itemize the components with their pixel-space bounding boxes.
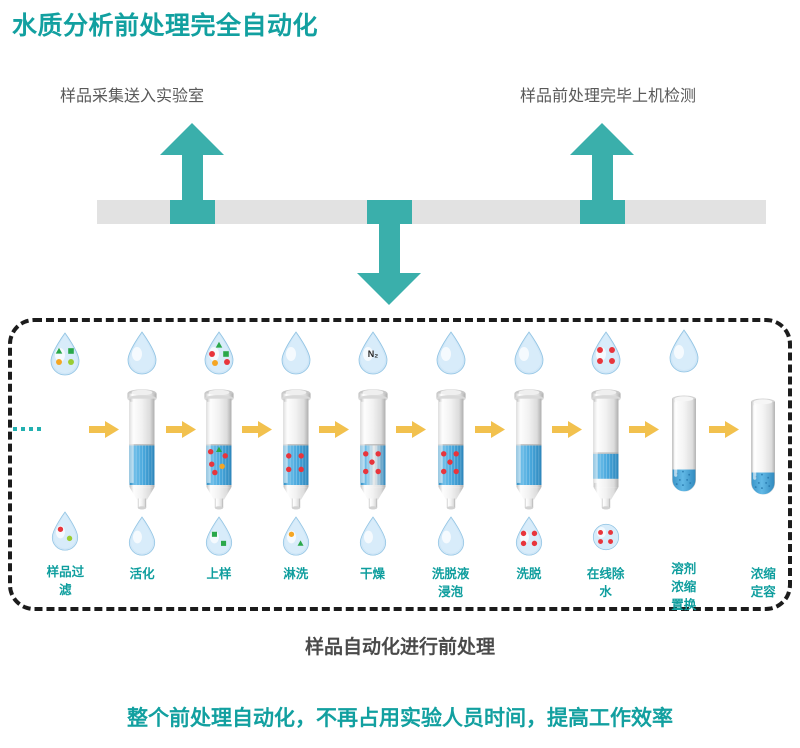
step-solvent-exchange-bottom-icon <box>659 508 709 558</box>
droplet-icon <box>43 331 87 379</box>
arrow-up-left-shaft <box>182 155 203 205</box>
droplet-icon <box>509 515 549 559</box>
droplet-icon <box>122 515 162 559</box>
step-eluent-soak-vessel <box>426 381 476 511</box>
step-activation[interactable]: 活化 <box>119 326 166 604</box>
step-solvent-exchange[interactable]: 溶剂 浓缩 置换 <box>659 326 709 604</box>
connector-arrow <box>242 326 272 604</box>
droplet-icon <box>662 328 706 376</box>
step-solvent-exchange-vessel <box>659 378 709 508</box>
step-concentrate-volume-top-icon <box>739 326 789 381</box>
flow-arrow-icon <box>552 419 582 439</box>
step-rinse-vessel <box>272 381 319 511</box>
arrow-up-right-head <box>570 123 634 155</box>
droplet-icon <box>197 330 241 378</box>
step-activation-top-icon <box>119 326 166 381</box>
step-loading[interactable]: 上样 <box>196 326 243 604</box>
step-sample-filter[interactable]: 样品过滤 <box>42 326 89 604</box>
step-activation-label: 活化 <box>130 567 155 581</box>
arrow-up-right-shaft <box>592 155 613 205</box>
step-eluent-soak-bottom-icon <box>426 511 476 563</box>
step-solvent-exchange-label: 溶剂 浓缩 置换 <box>671 562 696 612</box>
step-online-dewater-bottom-icon <box>582 511 629 563</box>
step-drying-vessel <box>349 381 396 511</box>
step-solvent-exchange-label-slot: 溶剂 浓缩 置换 <box>659 558 709 604</box>
spe-cartridge <box>428 381 474 511</box>
connector-arrow <box>166 326 196 604</box>
step-drying-bottom-icon <box>349 511 396 563</box>
spe-cartridge <box>350 381 396 511</box>
step-sample-filter-label: 样品过滤 <box>47 565 85 597</box>
step-loading-top-icon <box>196 326 243 381</box>
droplet-icon <box>507 330 551 378</box>
arrow-down-shaft <box>379 219 400 274</box>
flow-arrow-icon <box>709 419 739 439</box>
step-drying-label-slot: 干燥 <box>349 563 396 604</box>
step-rinse-label-slot: 淋洗 <box>272 563 319 604</box>
droplet-icon <box>120 330 164 378</box>
arrow-down-head <box>357 273 421 305</box>
flow-arrow-icon <box>319 419 349 439</box>
droplet-icon <box>274 330 318 378</box>
step-activation-bottom-icon <box>119 511 166 563</box>
connector-arrow <box>475 326 505 604</box>
step-sample-filter-vessel <box>42 384 89 506</box>
step-concentrate-volume-bottom-icon <box>739 511 789 563</box>
step-activation-vessel <box>119 381 166 511</box>
connector-arrow <box>89 326 119 604</box>
step-rinse-top-icon <box>272 326 319 381</box>
spe-cartridge <box>273 381 319 511</box>
step-concentrate-volume-label: 浓缩 定容 <box>751 567 776 599</box>
step-activation-label-slot: 活化 <box>119 563 166 604</box>
step-concentrate-volume[interactable]: 浓缩 定容 <box>739 326 789 604</box>
step-sample-filter-top-icon <box>42 326 89 384</box>
droplet-icon <box>353 515 393 559</box>
flow-arrow-icon <box>89 419 119 439</box>
connector-arrow <box>319 326 349 604</box>
step-concentrate-volume-label-slot: 浓缩 定容 <box>739 563 789 604</box>
arrow-up-left-head <box>160 123 224 155</box>
top-label-right: 样品前处理完毕上机检测 <box>520 82 696 106</box>
step-eluent-soak-label: 洗脱液浸泡 <box>432 567 470 599</box>
step-rinse-bottom-icon <box>272 511 319 563</box>
step-eluent-soak-label-slot: 洗脱液浸泡 <box>426 563 476 604</box>
step-elution-vessel <box>505 381 552 511</box>
step-online-dewater[interactable]: 在线除水 <box>582 326 629 604</box>
step-elution-bottom-icon <box>505 511 552 563</box>
step-solvent-exchange-top-icon <box>659 326 709 378</box>
step-rinse-label: 淋洗 <box>283 567 308 581</box>
step-online-dewater-label-slot: 在线除水 <box>582 563 629 604</box>
page-title: 水质分析前处理完全自动化 <box>12 6 318 42</box>
spe-cartridge <box>119 381 165 511</box>
spe-cartridge <box>583 381 629 511</box>
connector-arrow <box>552 326 582 604</box>
test-tube <box>740 381 786 511</box>
svg-text:N₂: N₂ <box>367 349 378 359</box>
step-eluent-soak[interactable]: 洗脱液浸泡 <box>426 326 476 604</box>
connector-arrow <box>709 326 739 604</box>
step-loading-vessel <box>196 381 243 511</box>
step-concentrate-volume-vessel <box>739 381 789 511</box>
connector-arrow <box>629 326 659 604</box>
flow-arrow-icon <box>396 419 426 439</box>
diagram-root: 水质分析前处理完全自动化 样品采集送入实验室 样品前处理完毕上机检测 <box>0 0 800 748</box>
droplet-icon <box>199 515 239 559</box>
step-drying-label: 干燥 <box>360 567 385 581</box>
step-elution-top-icon <box>505 326 552 381</box>
dotted-line-icon <box>13 427 41 431</box>
flow-arrow-icon <box>242 419 272 439</box>
top-label-left: 样品采集送入实验室 <box>60 82 204 106</box>
flow-arrow-icon <box>475 419 505 439</box>
droplet-icon <box>431 515 471 559</box>
step-elution-label: 洗脱 <box>516 567 541 581</box>
droplet-icon <box>584 330 628 378</box>
step-online-dewater-vessel <box>582 381 629 511</box>
test-tube <box>661 378 707 508</box>
flow-arrow-icon <box>629 419 659 439</box>
step-online-dewater-label: 在线除水 <box>587 567 625 599</box>
step-drying-top-icon: N₂ <box>349 326 396 381</box>
step-sample-filter-label-slot: 样品过滤 <box>42 561 89 604</box>
circle-icon <box>586 515 626 559</box>
caption-middle: 样品自动化进行前处理 <box>0 632 800 659</box>
step-loading-label-slot: 上样 <box>196 563 243 604</box>
droplet-icon <box>429 330 473 378</box>
step-loading-label: 上样 <box>206 567 231 581</box>
connector-arrow <box>396 326 426 604</box>
caption-bottom: 整个前处理自动化，不再占用实验人员时间，提高工作效率 <box>0 702 800 732</box>
step-sample-filter-bottom-icon <box>42 506 89 561</box>
droplet-icon: N₂ <box>351 330 395 378</box>
connector-dotted <box>12 326 42 604</box>
spe-cartridge <box>506 381 552 511</box>
step-drying[interactable]: N₂ <box>349 326 396 604</box>
flow-arrow-icon <box>166 419 196 439</box>
step-eluent-soak-top-icon <box>426 326 476 381</box>
step-rinse[interactable]: 淋洗 <box>272 326 319 604</box>
droplet-icon <box>45 510 85 554</box>
step-online-dewater-top-icon <box>582 326 629 381</box>
step-loading-bottom-icon <box>196 511 243 563</box>
process-steps-strip: 样品过滤 <box>12 326 788 604</box>
step-elution[interactable]: 洗脱 <box>505 326 552 604</box>
droplet-icon <box>276 515 316 559</box>
spe-cartridge <box>196 381 242 511</box>
step-elution-label-slot: 洗脱 <box>505 563 552 604</box>
